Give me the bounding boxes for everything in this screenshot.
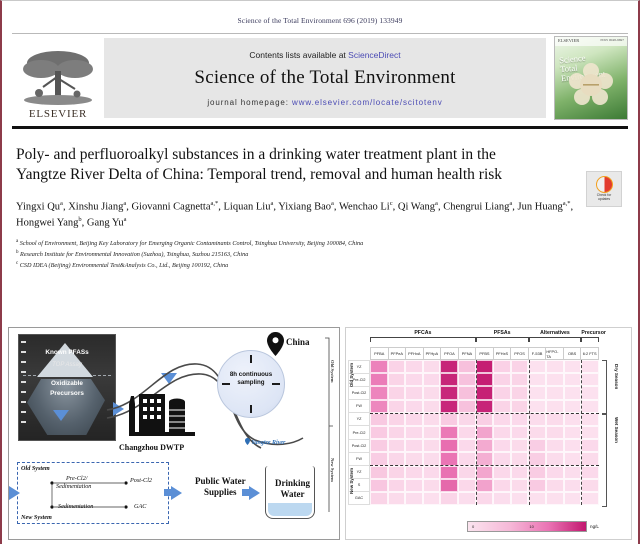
heatmap-group-bracket: [581, 337, 599, 342]
heatmap-cell[interactable]: [511, 386, 529, 399]
heatmap-group-alternatives: Alternatives: [529, 330, 582, 336]
heatmap-cell[interactable]: [370, 400, 388, 413]
heatmap-season-divider: [370, 465, 599, 466]
heatmap-cell[interactable]: [581, 426, 599, 439]
heatmap-season-labels: Dry SeasonWet Season: [601, 360, 627, 505]
heatmap-cell[interactable]: [370, 439, 388, 452]
heatmap-season-label: Dry Season: [614, 364, 619, 389]
heatmap-cell[interactable]: [440, 479, 458, 492]
heatmap-column-groups: PFCAsPFSAsAlternativesPrecursor: [370, 330, 599, 346]
heatmap-cell[interactable]: [405, 386, 423, 399]
heatmap-cell[interactable]: [564, 360, 582, 373]
public-supplies-label: Public Water Supplies: [195, 476, 246, 498]
heatmap-cell[interactable]: [493, 400, 511, 413]
heatmap-cell[interactable]: [388, 426, 406, 439]
heatmap-cell[interactable]: [440, 452, 458, 465]
heatmap-cell[interactable]: [405, 466, 423, 479]
author-affiliation-marker: a: [435, 200, 438, 207]
heatmap-row-label: Post-Cl2: [348, 439, 370, 452]
author-affiliation-marker: a,*: [210, 200, 218, 207]
heatmap-group-bracket: [370, 337, 476, 342]
heatmap-cell[interactable]: [476, 386, 494, 399]
heatmap-cell[interactable]: [546, 466, 564, 479]
journal-homepage-line: journal homepage: www.elsevier.com/locat…: [207, 98, 442, 107]
author-affiliation-marker: a,*: [563, 200, 571, 207]
heatmap-cell[interactable]: [546, 452, 564, 465]
heatmap-cell[interactable]: [528, 492, 546, 505]
crossmark-badge[interactable]: Check for updates: [586, 171, 622, 207]
heatmap-cell[interactable]: [476, 426, 494, 439]
heatmap-cell[interactable]: [581, 360, 599, 373]
contents-line: Contents lists available at ScienceDirec…: [249, 50, 400, 60]
heatmap-row-label: YZ: [348, 412, 370, 425]
iceberg-submerged: [27, 379, 105, 435]
heatmap-cell[interactable]: [458, 360, 476, 373]
heatmap-grid: [370, 360, 599, 505]
heatmap-cell[interactable]: [458, 492, 476, 505]
heatmap-cell[interactable]: [528, 400, 546, 413]
heatmap-cell[interactable]: [405, 492, 423, 505]
heatmap-cell[interactable]: [581, 466, 599, 479]
heatmap-cell[interactable]: [493, 452, 511, 465]
heatmap-column-header: PFNA: [458, 347, 476, 360]
heatmap-cell[interactable]: [423, 452, 441, 465]
public-supplies-line1: Public Water: [195, 476, 246, 486]
heatmap-cell[interactable]: [458, 373, 476, 386]
heatmap-cell[interactable]: [370, 360, 388, 373]
heatmap-cell[interactable]: [440, 360, 458, 373]
heatmap-cell[interactable]: [564, 400, 582, 413]
heatmap-cell[interactable]: [458, 466, 476, 479]
author-affiliation-marker: c: [390, 200, 393, 207]
heatmap-cell[interactable]: [493, 492, 511, 505]
heatmap-cell[interactable]: [440, 426, 458, 439]
sampling-label-line2: sampling: [237, 379, 264, 386]
heatmap-season-brace: [602, 360, 607, 415]
yangtze-river-label: Yangtze River: [245, 438, 285, 446]
elsevier-tree-icon: [19, 47, 97, 107]
arrow-down-iceberg-icon: [53, 410, 69, 421]
heatmap-container: PFCAsPFSAsAlternativesPrecursor PFBAPFPe…: [348, 330, 629, 537]
heatmap-cell[interactable]: [493, 360, 511, 373]
heatmap-cell[interactable]: [423, 360, 441, 373]
heatmap-cell[interactable]: [370, 466, 388, 479]
heatmap-cell[interactable]: [528, 479, 546, 492]
heatmap-cell[interactable]: [476, 413, 494, 426]
heatmap-cell[interactable]: [423, 400, 441, 413]
graphical-abstract: Known PFASs TOP Assay Oxidizable Precurs…: [8, 327, 632, 540]
heatmap-row: [370, 439, 599, 452]
heatmap-column-header: OBS: [563, 347, 581, 360]
author-name: Jun Huang: [518, 201, 563, 212]
heatmap-cell[interactable]: [528, 466, 546, 479]
heatmap-cell[interactable]: [405, 400, 423, 413]
heatmap-group-bracket: [476, 337, 529, 342]
affiliation-text: CSD IDEA (Beijing) Environmental Test&An…: [18, 262, 228, 269]
title-block: Poly- and perfluoroalkyl substances in a…: [2, 129, 638, 185]
heatmap-cell[interactable]: [440, 439, 458, 452]
heatmap-cell[interactable]: [388, 452, 406, 465]
heatmap-row: [370, 466, 599, 479]
running-head: Science of the Total Environment 696 (20…: [2, 1, 638, 25]
author-affiliation-marker: a: [124, 216, 127, 223]
heatmap-cell[interactable]: [476, 452, 494, 465]
heatmap-cell[interactable]: [476, 479, 494, 492]
colorbar-tick-max: 10: [529, 524, 533, 529]
heatmap-cell[interactable]: [458, 386, 476, 399]
heatmap-cell[interactable]: [476, 360, 494, 373]
iceberg-illustration: Known PFASs TOP Assay Oxidizable Precurs…: [18, 334, 116, 441]
heatmap-column-headers: PFBAPFPeAPFHxAPFHpAPFOAPFNAPFBSPFHxSPFOS…: [370, 347, 599, 360]
page-title: Poly- and perfluoroalkyl substances in a…: [16, 145, 536, 185]
homepage-url[interactable]: www.elsevier.com/locate/scitotenv: [292, 98, 443, 107]
heatmap-cell[interactable]: [370, 452, 388, 465]
heatmap-column-header: HFPO-TA: [545, 347, 563, 360]
heatmap-row: [370, 426, 599, 439]
heatmap-cell[interactable]: [440, 492, 458, 505]
step-gac: GAC: [134, 503, 146, 510]
heatmap-cell[interactable]: [423, 386, 441, 399]
arrow-into-system-stem: [8, 489, 13, 496]
heatmap-cell[interactable]: [581, 452, 599, 465]
heatmap-group-pfcas: PFCAs: [370, 330, 476, 336]
heatmap-cell[interactable]: [581, 400, 599, 413]
heatmap-cell[interactable]: [546, 492, 564, 505]
heatmap-cell[interactable]: [581, 413, 599, 426]
heatmap-cell[interactable]: [493, 413, 511, 426]
step-post-cl2: Post-Cl2: [130, 477, 152, 484]
heatmap-cell[interactable]: [388, 466, 406, 479]
heatmap-cell[interactable]: [423, 492, 441, 505]
heatmap-cell[interactable]: [528, 439, 546, 452]
known-pfas-label: Known PFASs: [19, 349, 115, 356]
heatmap-column-header: PFHpA: [423, 347, 441, 360]
heatmap-cell[interactable]: [511, 360, 529, 373]
heatmap-cell[interactable]: [564, 373, 582, 386]
heatmap-cell[interactable]: [458, 400, 476, 413]
heatmap-group-divider: [476, 360, 477, 505]
author-name: Qi Wang: [398, 201, 435, 212]
heatmap-cell[interactable]: [564, 386, 582, 399]
heatmap-cell[interactable]: [511, 439, 529, 452]
heatmap-cell[interactable]: [458, 413, 476, 426]
author-affiliation-marker: a: [60, 200, 63, 207]
author-name: Yingxi Qu: [16, 201, 60, 212]
treatment-plant-icon: [127, 390, 199, 438]
heatmap-cell[interactable]: [528, 373, 546, 386]
process-diagram: Known PFASs TOP Assay Oxidizable Precurs…: [8, 327, 340, 540]
heatmap-cell[interactable]: [440, 466, 458, 479]
public-supplies-line2: Supplies: [204, 487, 237, 497]
drinking-water-label: Drinking Water: [275, 478, 310, 500]
heatmap-cell[interactable]: [388, 373, 406, 386]
top-assay-label: TOP Assay: [19, 362, 115, 368]
heatmap-cell[interactable]: [564, 479, 582, 492]
heatmap-column-header: PFBA: [370, 347, 388, 360]
yangtze-river-text: Yangtze River: [251, 440, 285, 446]
heatmap-cell[interactable]: [423, 466, 441, 479]
heatmap-cell[interactable]: [476, 373, 494, 386]
heatmap-cell[interactable]: [388, 479, 406, 492]
heatmap-column-header: 6:2 FTS: [580, 347, 599, 360]
heatmap-cell[interactable]: [581, 386, 599, 399]
heatmap-column-header: PFOS: [510, 347, 528, 360]
iceberg-waterline: [23, 375, 111, 376]
heatmap-cell[interactable]: [370, 479, 388, 492]
plant-label: Changzhou DWTP: [119, 443, 184, 452]
heatmap-cell[interactable]: [511, 426, 529, 439]
heatmap-cell[interactable]: [458, 452, 476, 465]
heatmap-row-label: FW: [348, 399, 370, 412]
heatmap-column-header: F-53B: [528, 347, 546, 360]
drinking-water-line1: Drinking: [275, 478, 310, 488]
heatmap-group-divider: [529, 360, 530, 505]
heatmap-cell[interactable]: [370, 492, 388, 505]
author-affiliation-marker: a: [331, 200, 334, 207]
affiliation-text: School of Environment, Beijing Key Labor…: [18, 240, 363, 247]
river-pin-icon: [245, 438, 250, 445]
heatmap-cell[interactable]: [423, 426, 441, 439]
heatmap-system-label: New System: [349, 468, 354, 494]
colorbar-unit: ng/L: [590, 524, 599, 529]
heatmap-cell[interactable]: [581, 439, 599, 452]
heatmap-cell[interactable]: [511, 492, 529, 505]
heatmap-group-bracket: [529, 337, 582, 342]
heatmap-cell[interactable]: [546, 360, 564, 373]
heatmap-cell[interactable]: [423, 439, 441, 452]
heatmap-cell[interactable]: [546, 400, 564, 413]
heatmap-cell[interactable]: [528, 426, 546, 439]
heatmap-cell[interactable]: [546, 426, 564, 439]
side-label-new-system: New System: [330, 458, 335, 482]
homepage-prefix: journal homepage:: [207, 98, 292, 107]
heatmap-cell[interactable]: [511, 400, 529, 413]
heatmap-cell[interactable]: [546, 413, 564, 426]
heatmap-cell[interactable]: [528, 413, 546, 426]
heatmap-row: [370, 413, 599, 426]
author-affiliation-marker: a: [123, 200, 126, 207]
glass-water: [268, 503, 312, 516]
author-affiliation-marker: a: [270, 200, 273, 207]
heatmap-cell[interactable]: [476, 492, 494, 505]
diagram-side-labels: Old System New System: [324, 334, 338, 533]
author-name: Chengrui Liang: [443, 201, 509, 212]
heatmap-cell[interactable]: [546, 386, 564, 399]
heatmap-cell[interactable]: [581, 492, 599, 505]
heatmap-cell[interactable]: [511, 413, 529, 426]
cover-elsevier-mark: ELSEVIER: [558, 38, 579, 43]
heatmap-cell[interactable]: [388, 400, 406, 413]
heatmap-row: [370, 373, 599, 386]
heatmap-cell[interactable]: [564, 492, 582, 505]
author-name: Hongwei Yang: [16, 217, 78, 228]
sampling-clock: 8h continuous sampling: [217, 350, 285, 418]
heatmap-row: [370, 360, 599, 373]
heatmap-row: [370, 479, 599, 492]
heatmap-system-label: Old System: [349, 363, 354, 387]
author-name: Xinshu Jiang: [68, 201, 123, 212]
pfas-heatmap: PFCAsPFSAsAlternativesPrecursor PFBAPFPe…: [345, 327, 632, 540]
heatmap-cell[interactable]: [511, 373, 529, 386]
heatmap-cell[interactable]: [564, 452, 582, 465]
clock-tick-bottom: [250, 405, 252, 413]
heatmap-cell[interactable]: [440, 373, 458, 386]
affiliation-list: a School of Environment, Beijing Key Lab…: [2, 231, 638, 270]
journal-title: Science of the Total Environment: [194, 67, 455, 89]
heatmap-row-label: Post-Cl2: [348, 386, 370, 399]
sampling-label: 8h continuous sampling: [218, 371, 284, 387]
step-sedimentation-new: Sedimentation: [58, 503, 93, 510]
heatmap-group-label: PFSAs: [494, 330, 511, 336]
heatmap-column-header: PFHxS: [493, 347, 511, 360]
heatmap-group-precursor: Precursor: [581, 330, 599, 336]
heatmap-season-divider: [370, 413, 599, 414]
heatmap-cell[interactable]: [405, 452, 423, 465]
heatmap-row: [370, 452, 599, 465]
affiliation: a School of Environment, Beijing Key Lab…: [16, 238, 624, 249]
old-system-label: Old System: [21, 465, 50, 472]
author-list: Yingxi Qua, Xinshu Jianga, Giovanni Cagn…: [2, 185, 610, 232]
elsevier-wordmark: ELSEVIER: [29, 108, 87, 120]
heatmap-cell[interactable]: [493, 373, 511, 386]
heatmap-group-pfsas: PFSAs: [476, 330, 529, 336]
heatmap-row-label: FW: [348, 452, 370, 465]
author-affiliation-marker: b: [78, 216, 81, 223]
heatmap-cell[interactable]: [458, 479, 476, 492]
heatmap-cell[interactable]: [528, 386, 546, 399]
heatmap-cell[interactable]: [388, 386, 406, 399]
affiliation: b Research Institute for Environmental I…: [16, 249, 624, 260]
heatmap-cell[interactable]: [493, 386, 511, 399]
heatmap-cell[interactable]: [423, 373, 441, 386]
heatmap-cell[interactable]: [405, 426, 423, 439]
heatmap-cell[interactable]: [511, 479, 529, 492]
heatmap-column-header: PFPeA: [388, 347, 406, 360]
heatmap-cell[interactable]: [388, 413, 406, 426]
heatmap-season-label: Wet Season: [614, 417, 619, 443]
colorbar-gradient: 0 10: [467, 521, 587, 532]
author-name: Giovanni Cagnetta: [131, 201, 210, 212]
heatmap-cell[interactable]: [564, 413, 582, 426]
heatmap-row: [370, 400, 599, 413]
heatmap-cell[interactable]: [388, 439, 406, 452]
heatmap-cell[interactable]: [581, 479, 599, 492]
heatmap-cell[interactable]: [370, 426, 388, 439]
heatmap-row-label: Pre-Cl2: [348, 425, 370, 438]
heatmap-cell[interactable]: [493, 439, 511, 452]
article-first-page: Science of the Total Environment 696 (20…: [0, 0, 640, 544]
heatmap-body: YZPre-Cl2Post-Cl2FWYZPre-Cl2Post-Cl2FWYZ…: [348, 360, 599, 505]
elsevier-logo: ELSEVIER: [12, 34, 104, 122]
heatmap-row: [370, 386, 599, 399]
heatmap-column-header: PFBS: [475, 347, 493, 360]
heatmap-colorbar: 0 10 ng/L: [467, 520, 599, 533]
heatmap-cell[interactable]: [370, 373, 388, 386]
heatmap-cell[interactable]: [511, 466, 529, 479]
heatmap-cell[interactable]: [370, 386, 388, 399]
clock-tick-top: [250, 355, 252, 363]
china-label: China: [286, 337, 310, 347]
heatmap-cell[interactable]: [493, 479, 511, 492]
step-sedimentation-old: Sedimentation: [56, 483, 91, 490]
heatmap-cell[interactable]: [528, 360, 546, 373]
heatmap-cell[interactable]: [564, 426, 582, 439]
author-name: Liquan Liu: [224, 201, 271, 212]
heatmap-cell[interactable]: [405, 413, 423, 426]
heatmap-cell[interactable]: [405, 439, 423, 452]
heatmap-column-header: PFOA: [440, 347, 458, 360]
heatmap-row: [370, 492, 599, 505]
arrow-to-supplies-stem: [164, 489, 174, 496]
contents-prefix: Contents lists available at: [249, 50, 348, 60]
author-name: Wenchao Li: [339, 201, 390, 212]
heatmap-cell[interactable]: [405, 479, 423, 492]
heatmap-cell[interactable]: [493, 466, 511, 479]
heatmap-cell[interactable]: [564, 439, 582, 452]
heatmap-group-label: PFCAs: [414, 330, 431, 336]
heatmap-cell[interactable]: [476, 466, 494, 479]
precursors-label: Precursors: [19, 390, 115, 397]
heatmap-cell[interactable]: [388, 492, 406, 505]
heatmap-cell[interactable]: [458, 426, 476, 439]
heatmap-column-header: PFHxA: [405, 347, 423, 360]
step-pre-cl2: Pre-Cl2/: [66, 475, 87, 482]
heatmap-cell[interactable]: [440, 400, 458, 413]
heatmap-cell[interactable]: [458, 439, 476, 452]
journal-cover-thumbnail[interactable]: ELSEVIER ISSN 0048-9697 Science Total En…: [554, 36, 628, 120]
heatmap-season-brace: [602, 413, 607, 507]
sciencedirect-link[interactable]: ScienceDirect: [348, 50, 400, 60]
heatmap-cell[interactable]: [581, 373, 599, 386]
crossmark-label-line2: updates: [598, 197, 610, 201]
heatmap-cell[interactable]: [511, 452, 529, 465]
new-system-label: New System: [21, 514, 52, 521]
side-label-old-system: Old System: [330, 360, 335, 383]
heatmap-cell[interactable]: [528, 452, 546, 465]
heatmap-cell[interactable]: [476, 439, 494, 452]
heatmap-cell[interactable]: [440, 413, 458, 426]
crossmark-label: Check for updates: [597, 194, 612, 202]
author-affiliation-marker: a: [509, 200, 512, 207]
heatmap-cell[interactable]: [405, 360, 423, 373]
heatmap-cell[interactable]: [476, 400, 494, 413]
cover-flower-icon: [568, 62, 614, 108]
sampling-label-line1: 8h continuous: [230, 371, 272, 378]
heatmap-cell[interactable]: [405, 373, 423, 386]
heatmap-cell[interactable]: [388, 360, 406, 373]
heatmap-cell[interactable]: [546, 479, 564, 492]
affiliation: c CSD IDEA (Beijing) Environmental Test&…: [16, 260, 624, 271]
heatmap-group-label: Alternatives: [540, 330, 570, 336]
map-pin-icon: [267, 332, 284, 356]
heatmap-cell[interactable]: [493, 426, 511, 439]
heatmap-cell[interactable]: [546, 373, 564, 386]
heatmap-cell[interactable]: [564, 466, 582, 479]
oxidizable-label: Oxidizable: [19, 380, 115, 387]
heatmap-cell[interactable]: [440, 386, 458, 399]
treatment-system-box: Old System New System Pre-Cl2/ Sedimenta…: [17, 462, 169, 524]
heatmap-cell[interactable]: [370, 413, 388, 426]
masthead-center: Contents lists available at ScienceDirec…: [104, 38, 546, 118]
heatmap-cell[interactable]: [423, 479, 441, 492]
crossmark-icon: [596, 176, 613, 193]
cover-issn: ISSN 0048-9697: [600, 38, 624, 42]
heatmap-group-label: Precursor: [581, 330, 606, 336]
heatmap-cell[interactable]: [423, 413, 441, 426]
heatmap-cell[interactable]: [546, 439, 564, 452]
author-name: Yixiang Bao: [278, 201, 331, 212]
colorbar-tick-min: 0: [472, 524, 474, 529]
